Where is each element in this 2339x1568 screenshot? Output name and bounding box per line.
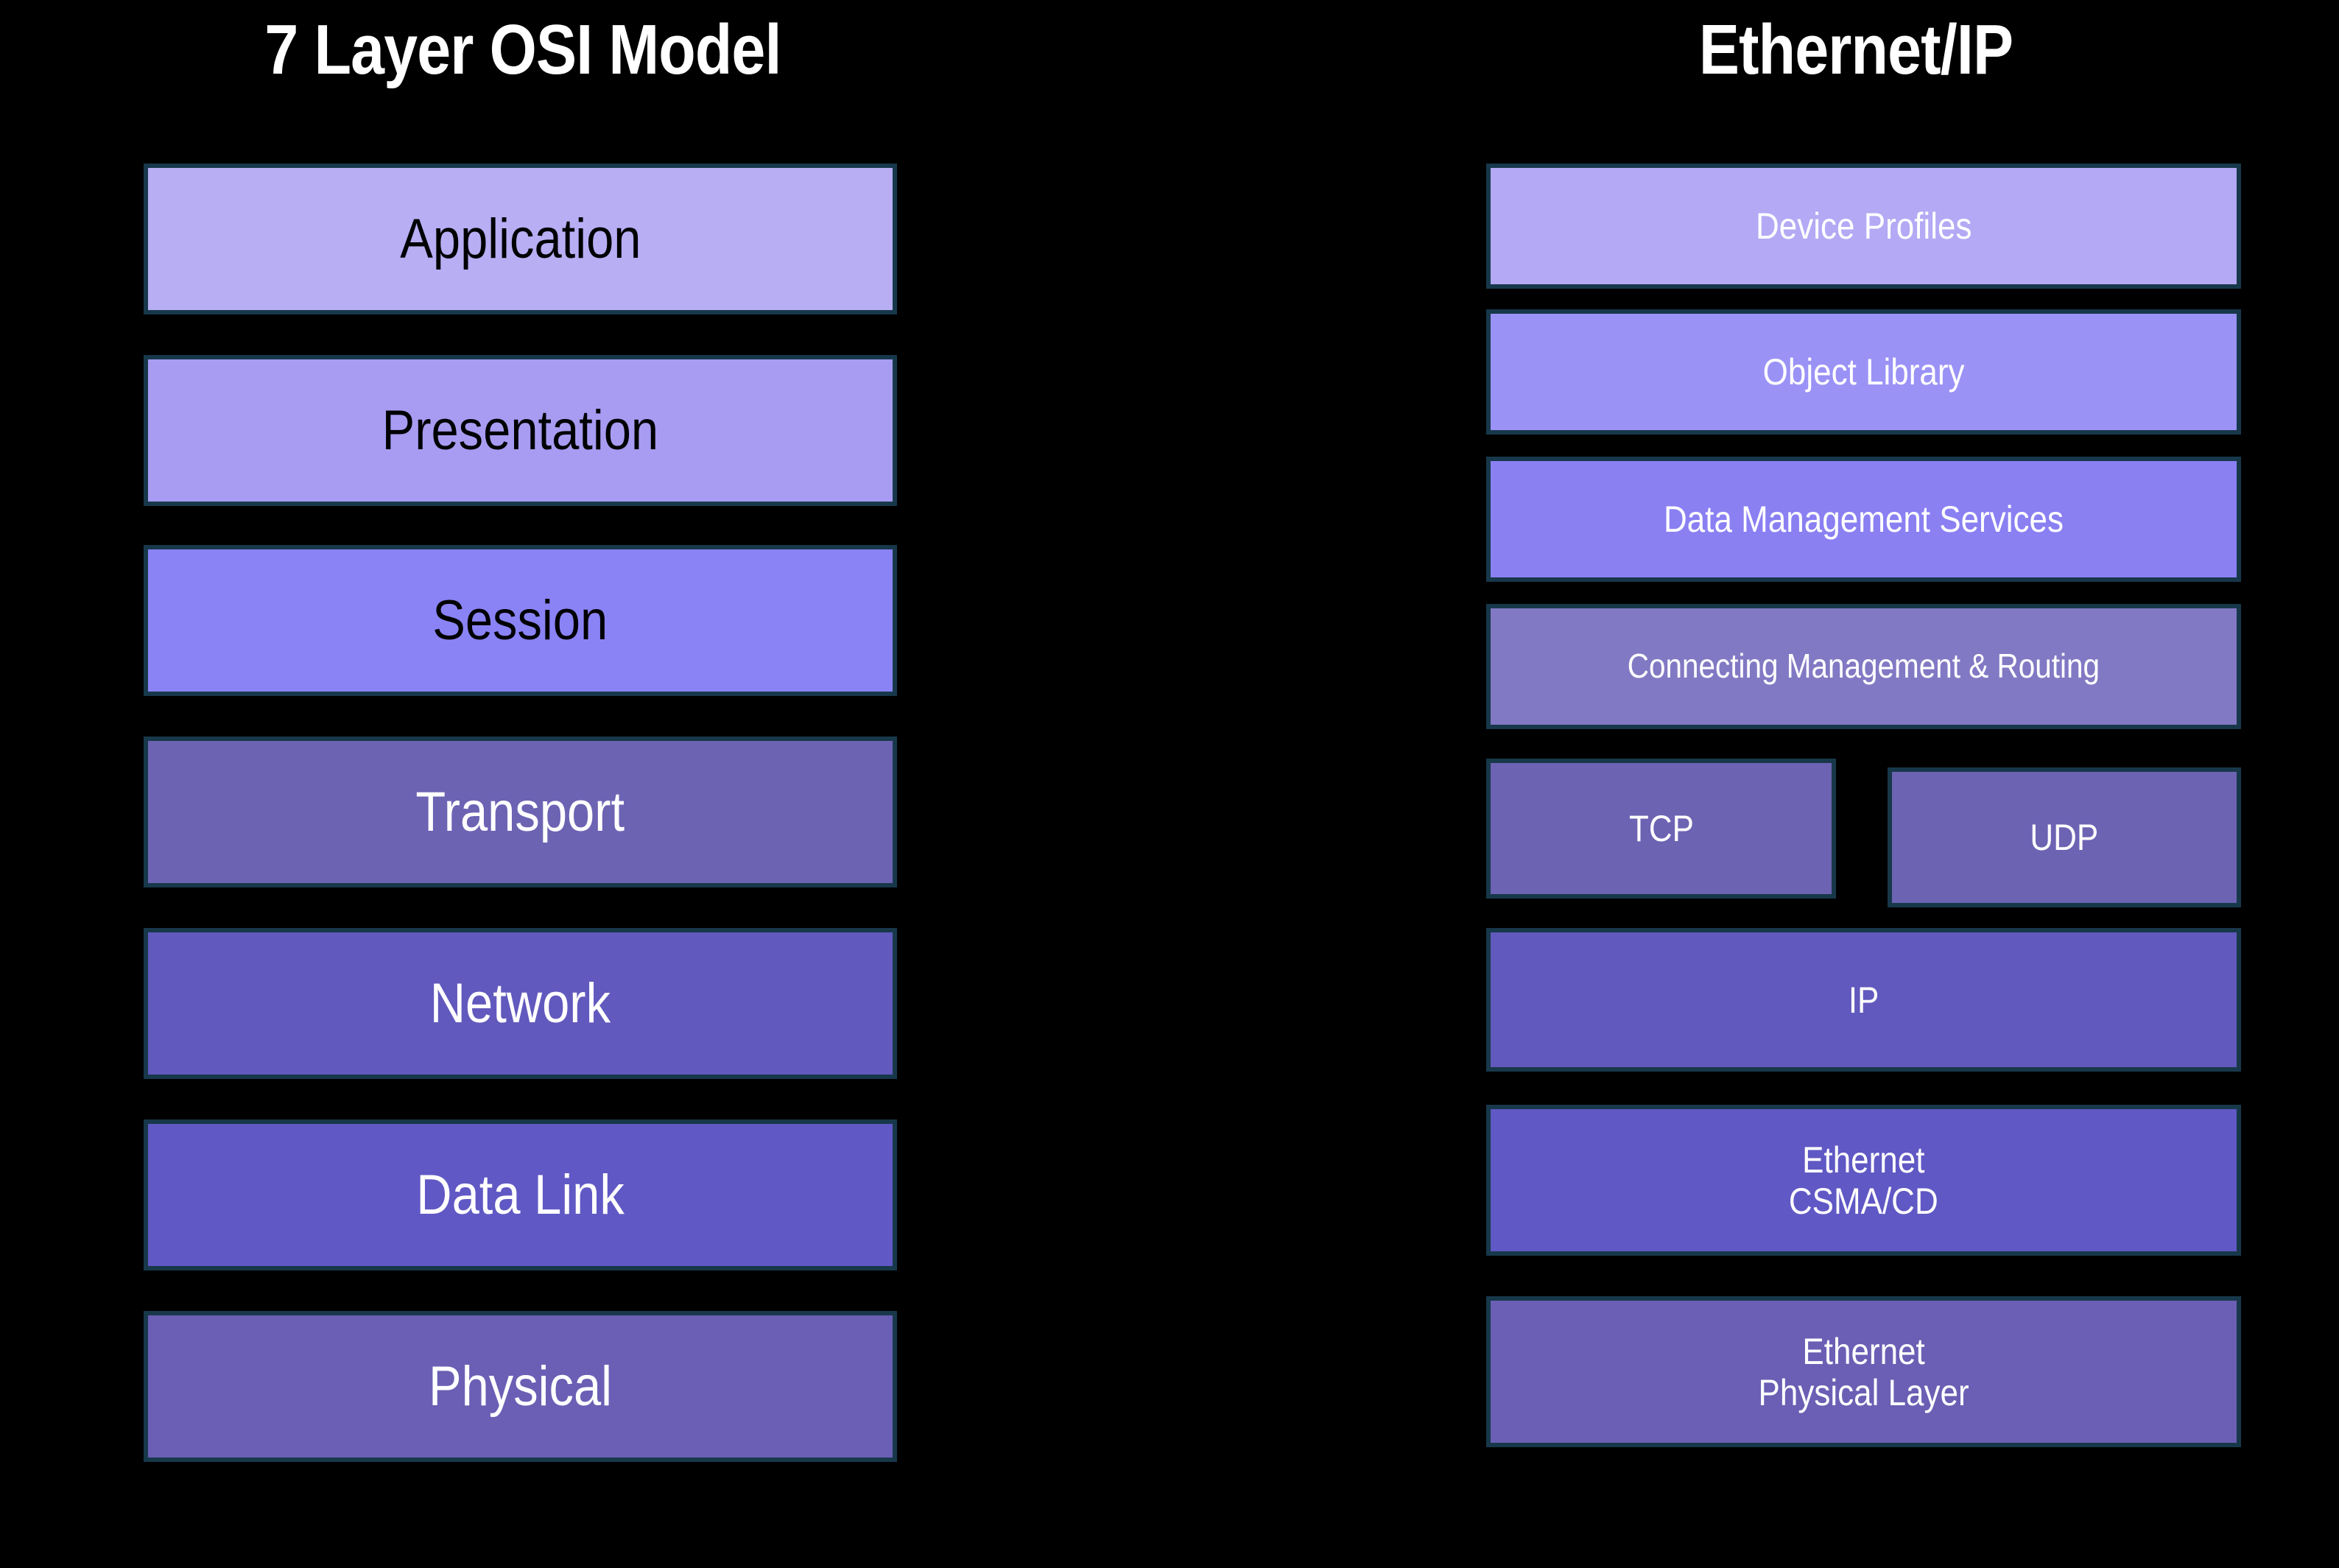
layer-label: Session <box>433 589 608 652</box>
layer-label: Transport <box>416 781 625 843</box>
layer-label: Data Management Services <box>1664 499 2064 540</box>
layer-box-ip: IP <box>1486 928 2241 1072</box>
layer-box-ethernet-physical-layer: Ethernet Physical Layer <box>1486 1296 2241 1447</box>
layer-box-network: Network <box>144 928 897 1079</box>
layer-label: Physical <box>429 1355 612 1418</box>
layer-box-transport: Transport <box>144 736 897 887</box>
layer-box-tcp: TCP <box>1486 759 1836 899</box>
layer-label: Data Link <box>416 1164 625 1226</box>
layer-box-application: Application <box>144 164 897 314</box>
layer-label: TCP <box>1629 808 1694 849</box>
layer-box-connecting-management-routing: Connecting Management & Routing <box>1486 604 2241 729</box>
layer-label: Connecting Management & Routing <box>1628 647 2100 686</box>
diagram-canvas: 7 Layer OSI Model Ethernet/IP Applicatio… <box>0 0 2339 1568</box>
layer-label: Ethernet Physical Layer <box>1758 1331 1969 1413</box>
layer-box-data-management-services: Data Management Services <box>1486 457 2241 582</box>
layer-box-object-library: Object Library <box>1486 309 2241 435</box>
layer-box-device-profiles: Device Profiles <box>1486 164 2241 289</box>
layer-label: Network <box>430 972 611 1035</box>
layer-label: UDP <box>2030 817 2099 858</box>
layer-label: IP <box>1849 980 1879 1021</box>
layer-label: Object Library <box>1763 351 1965 393</box>
layer-label: Ethernet CSMA/CD <box>1789 1139 1938 1222</box>
layer-label: Presentation <box>382 399 659 462</box>
osi-column-title: 7 Layer OSI Model <box>73 15 972 85</box>
layer-box-physical: Physical <box>144 1311 897 1462</box>
layer-box-session: Session <box>144 545 897 696</box>
ethernetip-column-title: Ethernet/IP <box>1451 15 2262 85</box>
layer-box-udp: UDP <box>1888 767 2241 907</box>
layer-label: Device Profiles <box>1756 205 1972 247</box>
layer-box-ethernet-csma-cd: Ethernet CSMA/CD <box>1486 1105 2241 1256</box>
layer-box-data-link: Data Link <box>144 1119 897 1270</box>
layer-box-presentation: Presentation <box>144 355 897 506</box>
layer-label: Application <box>400 208 641 270</box>
